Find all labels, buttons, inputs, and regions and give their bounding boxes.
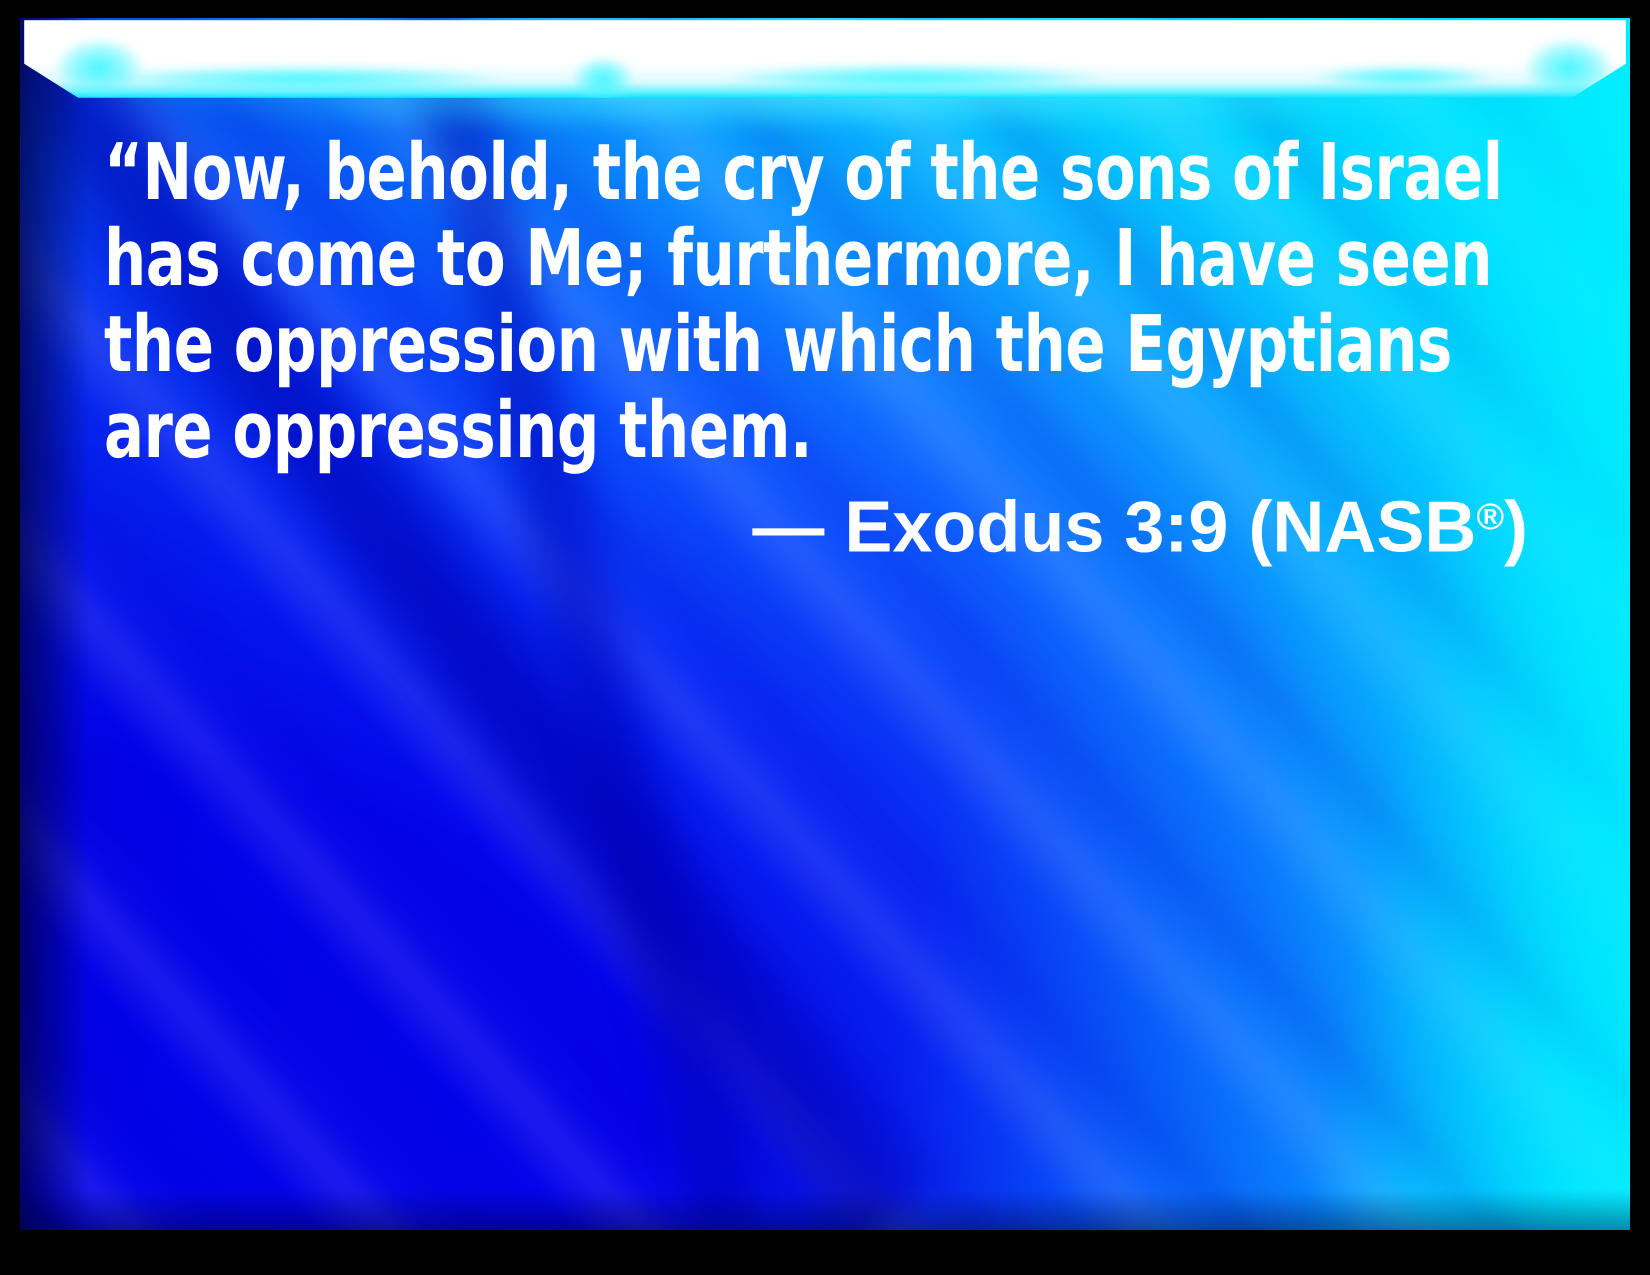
attribution-suffix: ): [1504, 487, 1528, 567]
registered-trademark-icon: ®: [1476, 495, 1504, 537]
attribution-prefix: — Exodus 3:9 (NASB: [752, 487, 1476, 567]
scripture-attribution: — Exodus 3:9 (NASB®): [104, 473, 1528, 570]
slide-canvas: “Now, behold, the cry of the sons of Isr…: [20, 18, 1630, 1230]
header-wisp: [572, 56, 634, 104]
header-wisp: [104, 66, 504, 92]
quote-line-2: has come to Me; furthermore, I have seen: [104, 216, 1304, 302]
quote-text-block: “Now, behold, the cry of the sons of Isr…: [104, 130, 1524, 474]
header-wisp: [1314, 66, 1494, 88]
background-bottom-shadow: [20, 1190, 1630, 1230]
scripture-slide: “Now, behold, the cry of the sons of Isr…: [0, 0, 1650, 1275]
quote-line-4: are oppressing them.: [104, 388, 1304, 474]
header-wisp: [724, 64, 1104, 92]
background-left-shadow: [20, 18, 90, 1230]
quote-line-3: the oppression with which the Egyptians: [104, 302, 1304, 388]
header-wisp: [54, 38, 144, 98]
header-band: [24, 20, 1626, 98]
quote-line-1: “Now, behold, the cry of the sons of Isr…: [104, 130, 1304, 216]
